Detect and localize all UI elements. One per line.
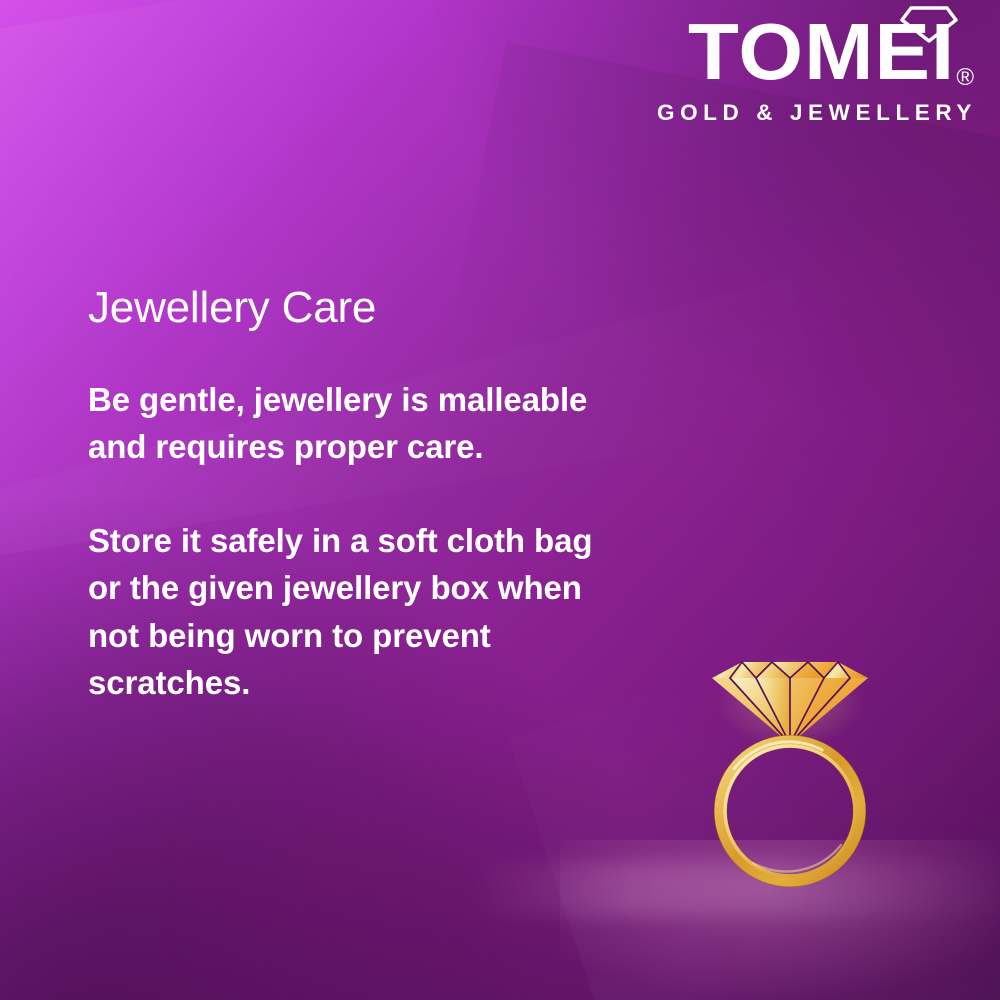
registered-mark: ® <box>956 66 974 90</box>
brand-logo: TOMEI ® GOLD & JEWELLERY <box>648 6 978 126</box>
logo-tagline: GOLD & JEWELLERY <box>648 100 978 126</box>
logo-wordmark: TOMEI <box>688 6 955 98</box>
body-paragraph-2: Store it safely in a soft cloth bag or t… <box>88 517 668 707</box>
copy-block: Jewellery Care Be gentle, jewellery is m… <box>88 284 668 707</box>
page-title: Jewellery Care <box>88 284 668 332</box>
logo-wordmark-row: TOMEI ® <box>648 6 978 98</box>
body-paragraph-1: Be gentle, jewellery is malleable and re… <box>88 376 668 471</box>
ring-band <box>721 742 860 881</box>
poster-canvas: TOMEI ® GOLD & JEWELLERY Jewellery Care … <box>0 0 1000 1000</box>
diamond-ring-illustration <box>690 640 890 910</box>
